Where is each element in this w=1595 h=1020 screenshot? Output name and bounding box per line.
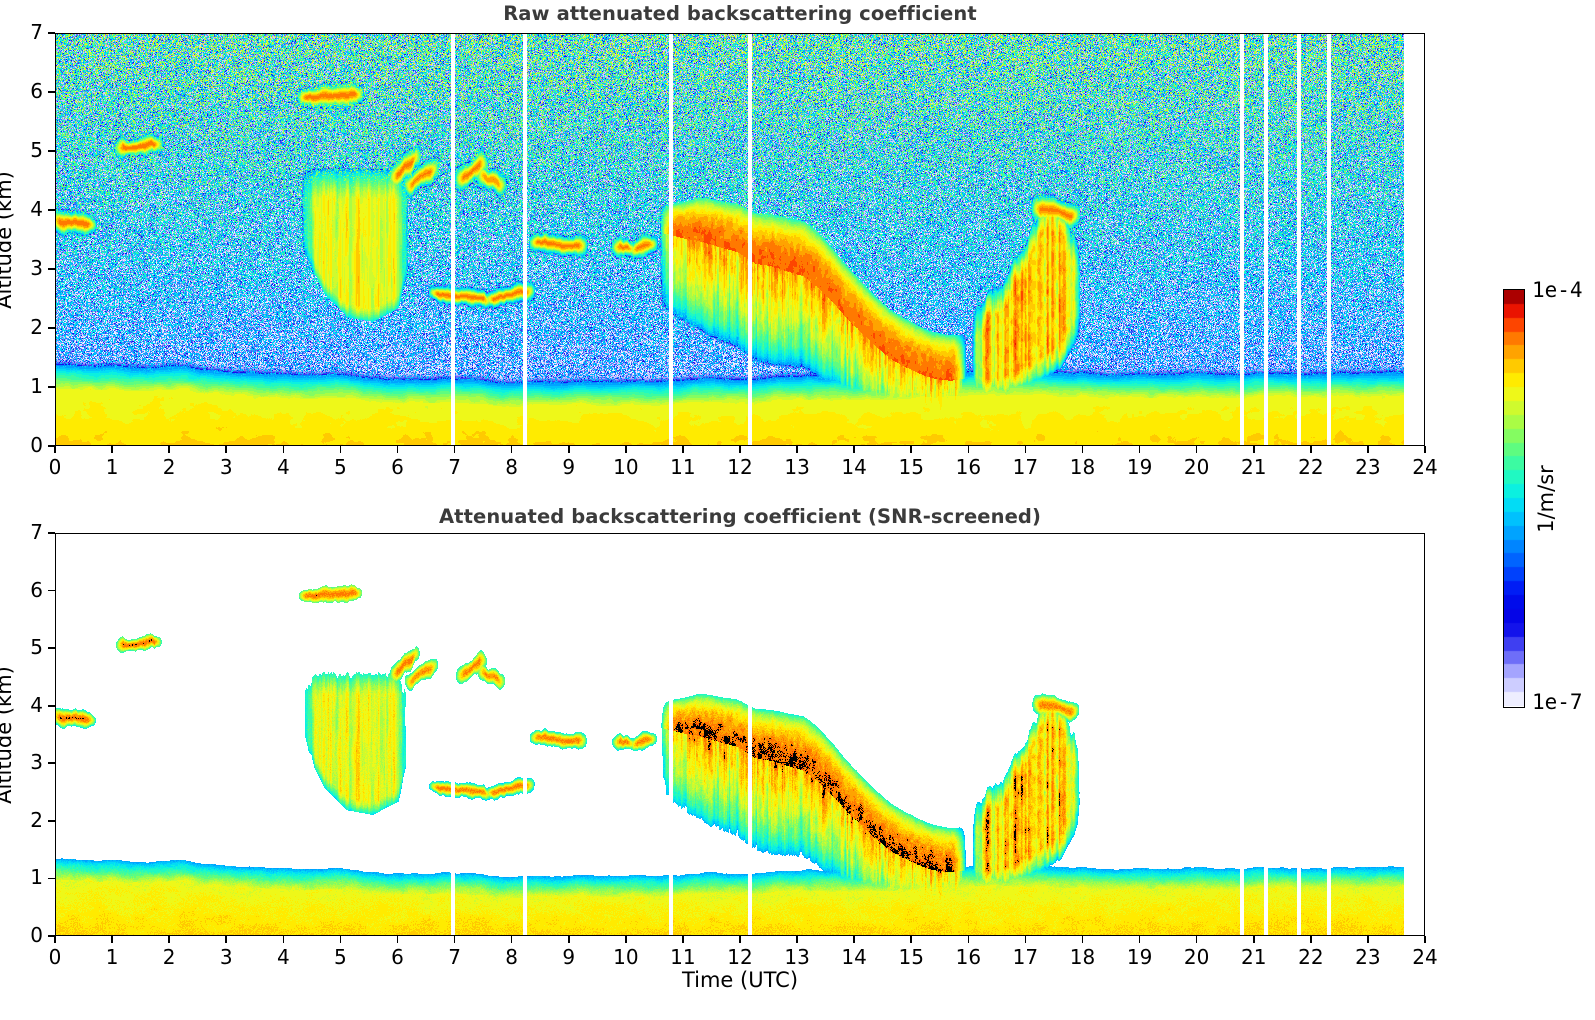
x-tick <box>283 936 285 943</box>
x-tick <box>54 936 56 943</box>
y-tick <box>48 590 55 592</box>
y-tick-label: 7 <box>9 20 43 44</box>
y-tick <box>48 386 55 388</box>
x-tick-label: 16 <box>948 945 988 969</box>
colorbar-min-label: 1e-7 <box>1532 690 1583 714</box>
x-tick <box>968 936 970 943</box>
x-tick <box>853 936 855 943</box>
plot-area-screened <box>55 533 1425 936</box>
x-tick <box>1025 446 1027 453</box>
x-tick-label: 24 <box>1405 945 1445 969</box>
x-tick <box>168 936 170 943</box>
x-tick <box>454 936 456 943</box>
y-tick <box>48 150 55 152</box>
x-tick <box>225 446 227 453</box>
x-tick-label: 12 <box>720 455 760 479</box>
x-tick-label: 10 <box>606 455 646 479</box>
x-tick <box>111 446 113 453</box>
x-tick-label: 5 <box>320 455 360 479</box>
x-tick <box>853 446 855 453</box>
x-tick <box>1196 936 1198 943</box>
x-tick-label: 17 <box>1005 945 1045 969</box>
x-tick <box>1367 936 1369 943</box>
x-tick-label: 10 <box>606 945 646 969</box>
x-tick-label: 1 <box>92 455 132 479</box>
x-tick-label: 5 <box>320 945 360 969</box>
x-axis-label: Time (UTC) <box>55 968 1425 992</box>
x-tick <box>1082 446 1084 453</box>
x-tick-label: 22 <box>1291 455 1331 479</box>
x-tick-label: 0 <box>35 945 75 969</box>
x-tick <box>682 936 684 943</box>
x-tick <box>625 446 627 453</box>
heatmap-raw <box>56 34 1425 446</box>
x-tick-label: 1 <box>92 945 132 969</box>
x-tick <box>739 446 741 453</box>
colorbar <box>1503 289 1525 708</box>
x-tick-label: 12 <box>720 945 760 969</box>
y-tick <box>48 91 55 93</box>
x-tick-label: 21 <box>1234 945 1274 969</box>
x-tick-label: 14 <box>834 945 874 969</box>
x-tick <box>111 936 113 943</box>
x-tick <box>568 936 570 943</box>
y-tick-label: 1 <box>9 865 43 889</box>
x-tick <box>168 446 170 453</box>
x-tick-label: 20 <box>1177 455 1217 479</box>
y-tick-label: 5 <box>9 138 43 162</box>
y-tick-label: 6 <box>9 79 43 103</box>
y-axis-label-screened: Altitude (km) <box>0 666 16 804</box>
x-tick <box>1139 936 1141 943</box>
x-tick-label: 23 <box>1348 455 1388 479</box>
x-tick <box>54 446 56 453</box>
x-tick <box>454 446 456 453</box>
x-tick <box>1310 936 1312 943</box>
x-tick <box>340 446 342 453</box>
heatmap-screened <box>56 534 1425 936</box>
x-tick-label: 2 <box>149 945 189 969</box>
x-tick <box>1025 936 1027 943</box>
y-tick-label: 0 <box>9 433 43 457</box>
x-tick <box>968 446 970 453</box>
x-tick <box>1424 936 1426 943</box>
x-tick <box>397 936 399 943</box>
x-tick-label: 7 <box>435 455 475 479</box>
x-tick <box>568 446 570 453</box>
x-tick <box>1310 446 1312 453</box>
x-tick-label: 7 <box>435 945 475 969</box>
y-tick-label: 6 <box>9 578 43 602</box>
x-tick <box>1082 936 1084 943</box>
x-tick <box>1196 446 1198 453</box>
x-tick <box>910 446 912 453</box>
x-tick-label: 11 <box>663 455 703 479</box>
x-tick-label: 20 <box>1177 945 1217 969</box>
y-tick <box>48 762 55 764</box>
y-tick <box>48 32 55 34</box>
y-tick <box>48 209 55 211</box>
x-tick-label: 13 <box>777 945 817 969</box>
y-tick-label: 2 <box>9 808 43 832</box>
x-tick-label: 6 <box>378 455 418 479</box>
y-tick <box>48 647 55 649</box>
x-tick-label: 18 <box>1063 945 1103 969</box>
x-tick-label: 19 <box>1120 455 1160 479</box>
x-tick-label: 22 <box>1291 945 1331 969</box>
x-tick-label: 17 <box>1005 455 1045 479</box>
x-tick <box>1253 936 1255 943</box>
y-tick <box>48 268 55 270</box>
x-tick <box>340 936 342 943</box>
x-tick-label: 0 <box>35 455 75 479</box>
x-tick <box>511 936 513 943</box>
y-tick-label: 1 <box>9 374 43 398</box>
y-tick <box>48 820 55 822</box>
x-tick-label: 4 <box>263 945 303 969</box>
x-tick-label: 23 <box>1348 945 1388 969</box>
x-tick-label: 2 <box>149 455 189 479</box>
y-tick-label: 7 <box>9 520 43 544</box>
x-tick <box>796 936 798 943</box>
x-tick <box>511 446 513 453</box>
x-tick <box>1139 446 1141 453</box>
x-tick-label: 6 <box>378 945 418 969</box>
x-tick <box>1424 446 1426 453</box>
x-tick-label: 8 <box>492 455 532 479</box>
x-tick <box>625 936 627 943</box>
x-tick <box>1253 446 1255 453</box>
x-tick <box>910 936 912 943</box>
colorbar-max-label: 1e-4 <box>1532 278 1583 302</box>
x-tick <box>739 936 741 943</box>
plot-area-raw <box>55 33 1425 446</box>
x-tick-label: 16 <box>948 455 988 479</box>
x-tick-label: 21 <box>1234 455 1274 479</box>
panel-title-screened: Attenuated backscattering coefficient (S… <box>55 505 1425 528</box>
x-tick-label: 9 <box>549 945 589 969</box>
x-tick <box>225 936 227 943</box>
x-tick-label: 8 <box>492 945 532 969</box>
x-tick-label: 13 <box>777 455 817 479</box>
x-tick-label: 18 <box>1063 455 1103 479</box>
y-tick <box>48 705 55 707</box>
x-tick <box>283 446 285 453</box>
x-tick <box>796 446 798 453</box>
x-tick-label: 4 <box>263 455 303 479</box>
y-axis-label-raw: Altitude (km) <box>0 171 16 309</box>
x-tick <box>397 446 399 453</box>
y-tick <box>48 327 55 329</box>
x-tick-label: 3 <box>206 455 246 479</box>
x-tick-label: 3 <box>206 945 246 969</box>
x-tick-label: 9 <box>549 455 589 479</box>
y-tick-label: 5 <box>9 635 43 659</box>
colorbar-label: 1/m/sr <box>1534 465 1558 533</box>
x-tick-label: 14 <box>834 455 874 479</box>
x-tick-label: 19 <box>1120 945 1160 969</box>
x-tick-label: 15 <box>891 455 931 479</box>
y-tick <box>48 878 55 880</box>
y-tick-label: 0 <box>9 923 43 947</box>
x-tick-label: 15 <box>891 945 931 969</box>
x-tick-label: 11 <box>663 945 703 969</box>
y-tick-label: 2 <box>9 315 43 339</box>
x-tick <box>682 446 684 453</box>
x-tick-label: 24 <box>1405 455 1445 479</box>
panel-title-raw: Raw attenuated backscattering coefficien… <box>55 2 1425 25</box>
x-tick <box>1367 446 1369 453</box>
y-tick <box>48 532 55 534</box>
